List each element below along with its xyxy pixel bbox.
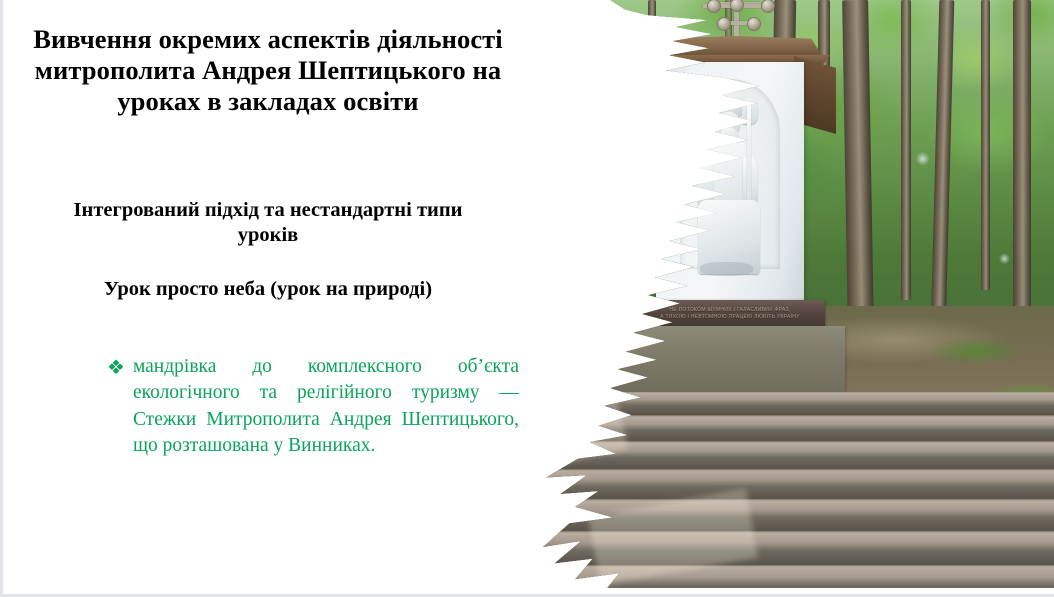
slide-photo: НЕ ПОТОКОМ ШУМНИХ І ГАЛАСЛИВИХ ФРАЗ, А Т… <box>473 0 1054 588</box>
tree-trunk <box>581 0 605 300</box>
stair-step <box>473 532 1054 565</box>
stair-step <box>473 470 1054 499</box>
bas-relief-figure <box>689 91 772 286</box>
slide-text-column: Вивчення окремих аспектів діяльності мит… <box>3 0 523 594</box>
forest-monument-photo: НЕ ПОТОКОМ ШУМНИХ І ГАЛАСЛИВИХ ФРАЗ, А Т… <box>473 0 1054 588</box>
diamond-bullet-icon: ❖ <box>107 354 125 380</box>
stair-step <box>473 500 1054 531</box>
presentation-slide: НЕ ПОТОКОМ ШУМНИХ І ГАЛАСЛИВИХ ФРАЗ, А Т… <box>0 0 1054 597</box>
bullet-list-item: ❖ мандрівка до комплексного об’єкта екол… <box>107 354 519 459</box>
stair-step <box>473 442 1054 469</box>
stone-staircase <box>473 392 1054 588</box>
tree-trunk <box>524 0 544 310</box>
inscription-line-1: НЕ ПОТОКОМ ШУМНИХ І ГАЛАСЛИВИХ ФРАЗ, <box>669 307 790 313</box>
sheptytsky-monument: НЕ ПОТОКОМ ШУМНИХ І ГАЛАСЛИВИХ ФРАЗ, А Т… <box>473 0 1054 588</box>
tree-trunk <box>648 0 656 250</box>
stair-step <box>473 416 1054 441</box>
stair-step <box>473 566 1054 588</box>
inscription-plaque: НЕ ПОТОКОМ ШУМНИХ І ГАЛАСЛИВИХ ФРАЗ, А Т… <box>635 300 825 326</box>
monument-pedestal <box>615 326 845 398</box>
slide-subtitle-primary: Інтегрований підхід та нестандартні типи… <box>73 198 463 247</box>
slide-title: Вивчення окремих аспектів діяльності мит… <box>33 24 503 117</box>
stair-step <box>473 392 1054 415</box>
bullet-item-text: мандрівка до комплексного об’єкта еколог… <box>133 354 519 459</box>
slide-subtitle-secondary: Урок просто неба (урок на природі) <box>73 277 463 302</box>
monument-stone-slab <box>656 62 804 300</box>
inscription-line-2: А ТИХОЮ І НЕВТОМНОЮ ПРАЦЕЮ ЛЮБІТЬ УКРАЇН… <box>660 314 799 320</box>
